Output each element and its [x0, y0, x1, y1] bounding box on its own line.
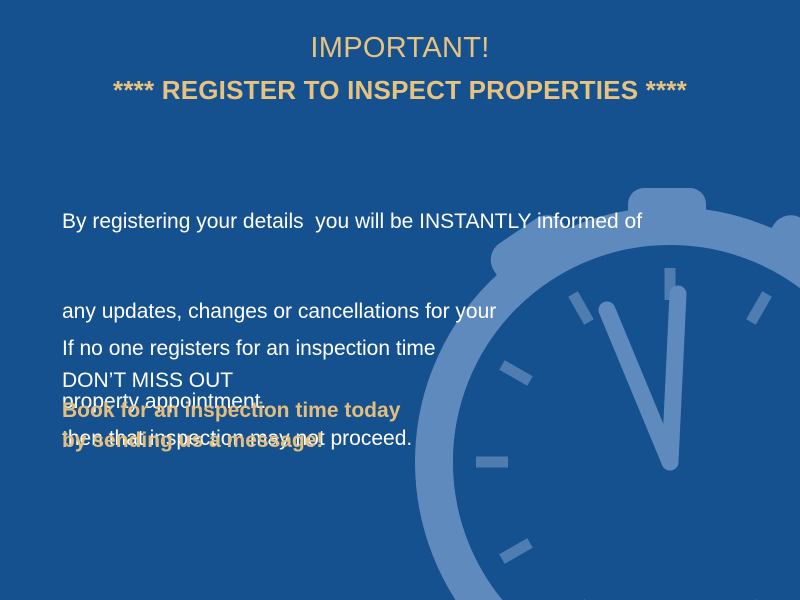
paragraph-no-registration-line-1: If no one registers for an inspection ti… [62, 334, 436, 364]
paragraph-registering-line-1: By registering your details you will be … [62, 207, 642, 237]
cta-book-line: Book for an inspection time today [62, 396, 400, 426]
heading-important: IMPORTANT! [0, 33, 800, 65]
slide-content: IMPORTANT! **** REGISTER TO INSPECT PROP… [0, 0, 800, 600]
cta-message-line: by sending us a message! [62, 426, 323, 456]
promo-slide: IMPORTANT! **** REGISTER TO INSPECT PROP… [0, 0, 800, 600]
heading-register: **** REGISTER TO INSPECT PROPERTIES **** [0, 76, 800, 105]
cta-lead-text: DON’T MISS OUT [62, 366, 233, 396]
